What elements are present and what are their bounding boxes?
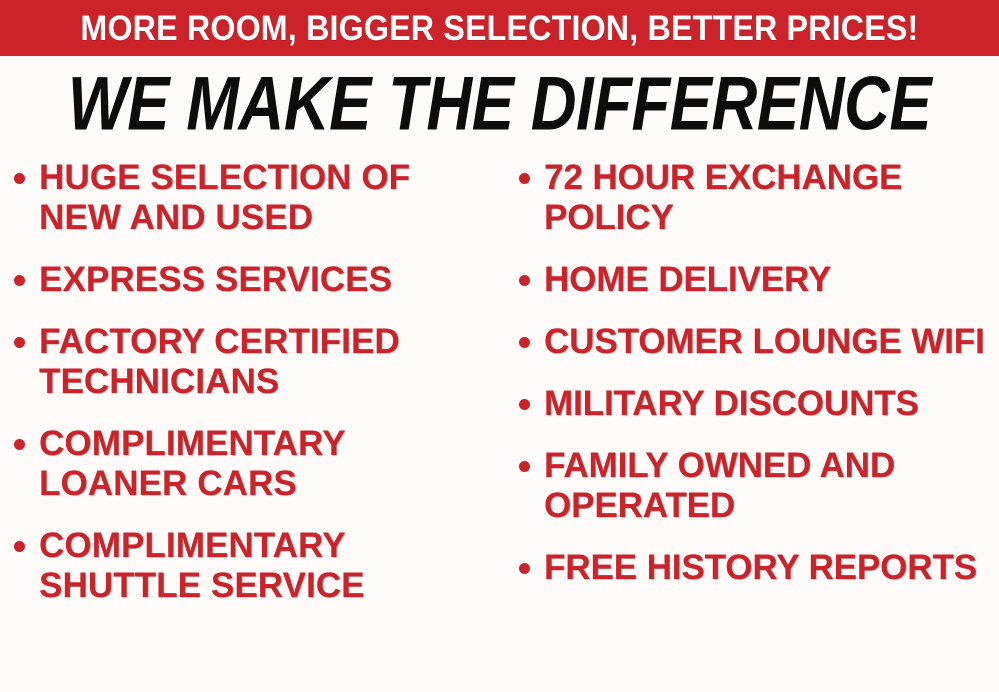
bullet-dot-icon [519, 275, 530, 286]
list-item-label: CUSTOMER LOUNGE WIFI [544, 322, 999, 362]
list-item: FACTORY CERTIFIED TECHNICIANS [14, 322, 501, 402]
bullet-dot-icon [519, 461, 530, 472]
bullet-dot-icon [14, 541, 25, 552]
list-item-label: HUGE SELECTION OF NEW AND USED [39, 158, 501, 238]
list-item: COMPLIMENTARY SHUTTLE SERVICE [14, 526, 501, 606]
list-item-label: COMPLIMENTARY LOANER CARS [39, 424, 501, 504]
top-banner: MORE ROOM, BIGGER SELECTION, BETTER PRIC… [0, 0, 999, 56]
main-headline-text: WE MAKE THE DIFFERENCE [68, 66, 931, 142]
list-item-label: HOME DELIVERY [544, 260, 999, 300]
bullet-dot-icon [14, 439, 25, 450]
list-item: MILITARY DISCOUNTS [519, 384, 999, 424]
bullet-dot-icon [14, 337, 25, 348]
list-item-label: FACTORY CERTIFIED TECHNICIANS [39, 322, 501, 402]
list-item-label: FREE HISTORY REPORTS [544, 548, 999, 588]
list-item: FREE HISTORY REPORTS [519, 548, 999, 588]
list-item: FAMILY OWNED AND OPERATED [519, 446, 999, 526]
bullet-dot-icon [14, 275, 25, 286]
list-item-label: EXPRESS SERVICES [39, 260, 501, 300]
list-item: EXPRESS SERVICES [14, 260, 501, 300]
promo-banner-graphic: MORE ROOM, BIGGER SELECTION, BETTER PRIC… [0, 0, 999, 692]
main-headline: WE MAKE THE DIFFERENCE [0, 68, 999, 140]
list-item: HOME DELIVERY [519, 260, 999, 300]
list-item: CUSTOMER LOUNGE WIFI [519, 322, 999, 362]
bullet-dot-icon [14, 173, 25, 184]
top-banner-headline: MORE ROOM, BIGGER SELECTION, BETTER PRIC… [80, 11, 918, 46]
bullet-dot-icon [519, 399, 530, 410]
benefits-column-left: HUGE SELECTION OF NEW AND USED EXPRESS S… [0, 158, 505, 628]
list-item: COMPLIMENTARY LOANER CARS [14, 424, 501, 504]
bullet-dot-icon [519, 337, 530, 348]
benefits-columns: HUGE SELECTION OF NEW AND USED EXPRESS S… [0, 158, 999, 692]
list-item: 72 HOUR EXCHANGE POLICY [519, 158, 999, 238]
benefits-column-right: 72 HOUR EXCHANGE POLICY HOME DELIVERY CU… [505, 158, 999, 610]
bullet-dot-icon [519, 173, 530, 184]
list-item-label: FAMILY OWNED AND OPERATED [544, 446, 999, 526]
list-item-label: 72 HOUR EXCHANGE POLICY [544, 158, 999, 238]
bullet-dot-icon [519, 563, 530, 574]
list-item-label: COMPLIMENTARY SHUTTLE SERVICE [39, 526, 501, 606]
list-item: HUGE SELECTION OF NEW AND USED [14, 158, 501, 238]
list-item-label: MILITARY DISCOUNTS [544, 384, 999, 424]
